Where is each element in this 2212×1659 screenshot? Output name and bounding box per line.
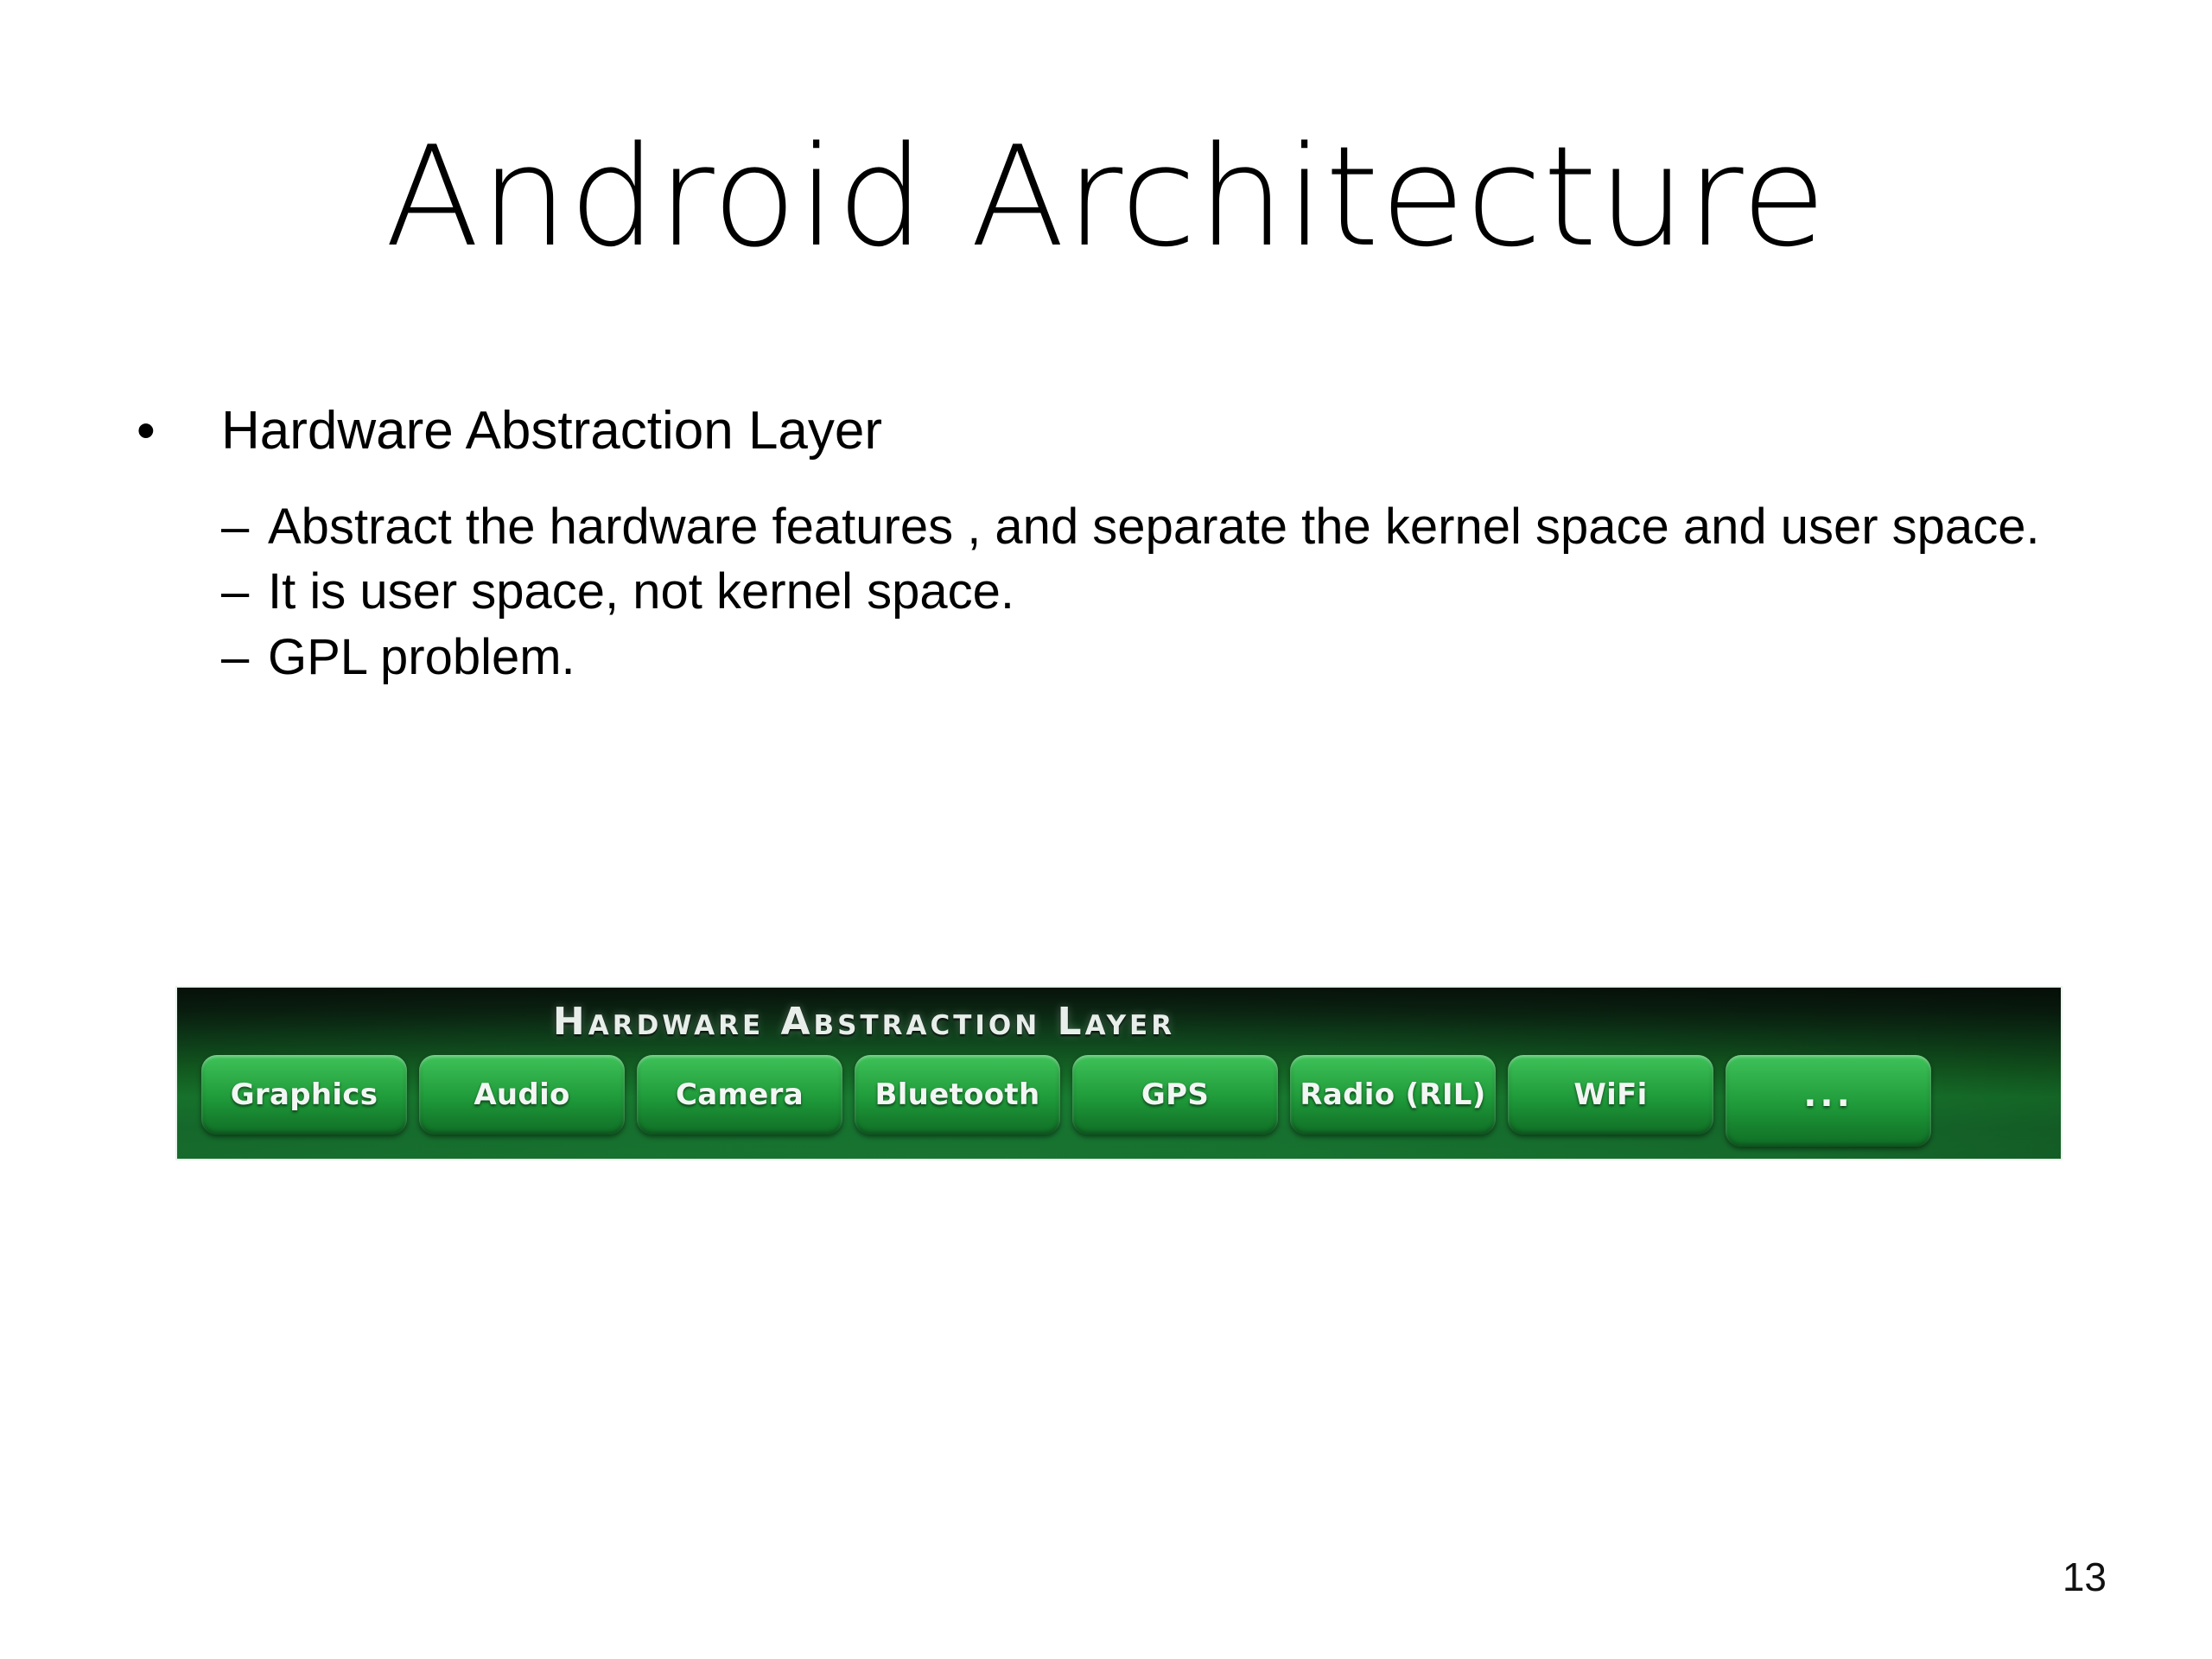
hal-module-label: WiFi — [1573, 1077, 1647, 1112]
hal-module-label: Bluetooth — [875, 1077, 1040, 1112]
hal-module-graphics[interactable]: Graphics — [201, 1055, 407, 1135]
sub-bullet-label: Abstract the hardware features , and sep… — [268, 499, 2040, 555]
main-bullet-row: • Hardware Abstraction Layer — [130, 404, 2117, 479]
dash-marker-icon: – — [221, 628, 249, 686]
hal-module-wifi[interactable]: WiFi — [1508, 1055, 1713, 1135]
hal-module-bluetooth[interactable]: Bluetooth — [855, 1055, 1060, 1135]
hal-module-more[interactable]: ... — [1726, 1055, 1931, 1147]
hal-module-label: ... — [1803, 1075, 1853, 1115]
hal-module-camera[interactable]: Camera — [637, 1055, 842, 1135]
hal-diagram: Hardware Abstraction Layer Graphics Audi… — [177, 988, 2061, 1159]
sub-bullet-item: – It is user space, not kernel space. — [221, 563, 2117, 620]
hal-module-label: Camera — [676, 1077, 804, 1112]
main-bullet-label: Hardware Abstraction Layer — [221, 401, 882, 461]
sub-bullet-list: – Abstract the hardware features , and s… — [221, 498, 2117, 686]
hal-diagram-title: Hardware Abstraction Layer — [177, 1000, 1551, 1044]
bullet-dot-icon: • — [137, 404, 171, 458]
slide-title: Android Architecture — [0, 119, 2212, 274]
hal-module-radio-ril[interactable]: Radio (RIL) — [1290, 1055, 1496, 1135]
sub-bullet-item: – Abstract the hardware features , and s… — [221, 498, 2117, 556]
sub-bullet-label: It is user space, not kernel space. — [268, 563, 1014, 620]
dash-marker-icon: – — [221, 498, 249, 556]
dash-marker-icon: – — [221, 563, 249, 620]
hal-module-gps[interactable]: GPS — [1072, 1055, 1278, 1135]
sub-bullet-item: – GPL problem. — [221, 628, 2117, 686]
hal-module-audio[interactable]: Audio — [419, 1055, 625, 1135]
hal-module-label: Graphics — [231, 1077, 378, 1112]
sub-bullet-label: GPL problem. — [268, 629, 575, 685]
hal-module-row: Graphics Audio Camera Bluetooth GPS Radi… — [201, 1055, 1931, 1147]
hal-module-label: Radio (RIL) — [1300, 1077, 1485, 1112]
page-number: 13 — [2063, 1554, 2107, 1600]
bullet-content-block: • Hardware Abstraction Layer – Abstract … — [130, 404, 2117, 693]
hal-module-label: GPS — [1141, 1077, 1209, 1112]
hal-module-label: Audio — [474, 1077, 569, 1112]
